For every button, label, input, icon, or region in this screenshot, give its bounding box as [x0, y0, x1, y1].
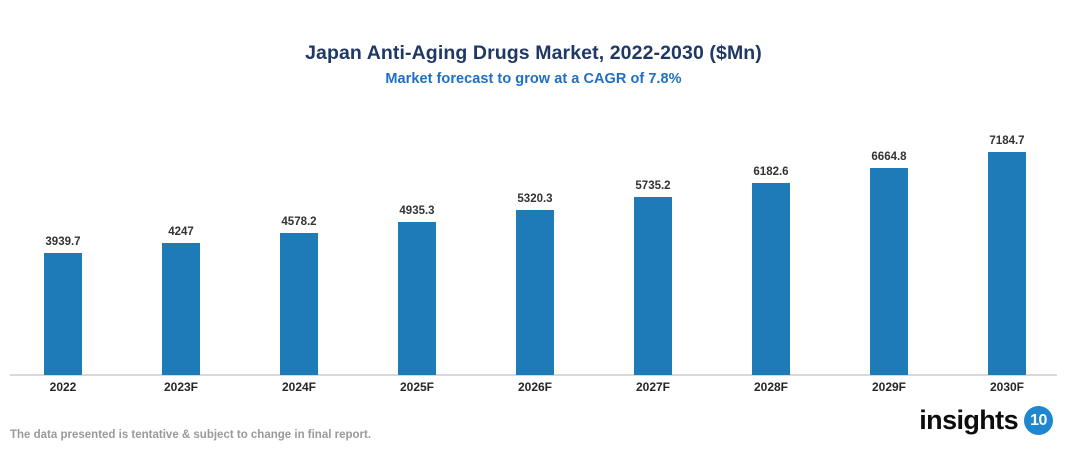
bar-value-label: 4578.2	[240, 216, 358, 228]
insights10-logo: insights 10	[919, 406, 1053, 435]
x-axis-tick-label: 2026F	[476, 380, 594, 394]
bar[interactable]	[752, 183, 790, 375]
x-axis-tick-label: 2027F	[594, 380, 712, 394]
bar[interactable]	[280, 233, 318, 375]
bar[interactable]	[162, 243, 200, 375]
x-axis-tick-label: 2024F	[240, 380, 358, 394]
bar-value-label: 4247	[122, 226, 240, 238]
bar-chart-plot-area: 3939.7202242472023F4578.22024F4935.32025…	[0, 0, 1067, 454]
x-axis-tick-label: 2028F	[712, 380, 830, 394]
bar[interactable]	[870, 168, 908, 375]
bar[interactable]	[988, 152, 1026, 375]
x-axis-tick-label: 2025F	[358, 380, 476, 394]
bar[interactable]	[634, 197, 672, 375]
bar-group: 6182.62028F	[712, 0, 830, 454]
bar-group: 42472023F	[122, 0, 240, 454]
bar-value-label: 4935.3	[358, 205, 476, 217]
bar-group: 4935.32025F	[358, 0, 476, 454]
bar[interactable]	[44, 253, 82, 375]
x-axis-tick-label: 2029F	[830, 380, 948, 394]
bar-group: 7184.72030F	[948, 0, 1066, 454]
bar-group: 5735.22027F	[594, 0, 712, 454]
brand-wordmark: insights	[919, 407, 1018, 434]
bar-value-label: 5320.3	[476, 193, 594, 205]
bar-value-label: 3939.7	[4, 236, 122, 248]
bar-group: 3939.72022	[4, 0, 122, 454]
bar[interactable]	[516, 210, 554, 375]
bar-group: 5320.32026F	[476, 0, 594, 454]
bar[interactable]	[398, 222, 436, 375]
bar-value-label: 5735.2	[594, 180, 712, 192]
bar-value-label: 6182.6	[712, 166, 830, 178]
x-axis-tick-label: 2023F	[122, 380, 240, 394]
x-axis-tick-label: 2022	[4, 380, 122, 394]
bar-group: 4578.22024F	[240, 0, 358, 454]
bar-value-label: 7184.7	[948, 135, 1066, 147]
bar-value-label: 6664.8	[830, 151, 948, 163]
bar-group: 6664.82029F	[830, 0, 948, 454]
disclaimer-note: The data presented is tentative & subjec…	[10, 429, 371, 441]
brand-badge-icon: 10	[1024, 406, 1053, 435]
x-axis-tick-label: 2030F	[948, 380, 1066, 394]
